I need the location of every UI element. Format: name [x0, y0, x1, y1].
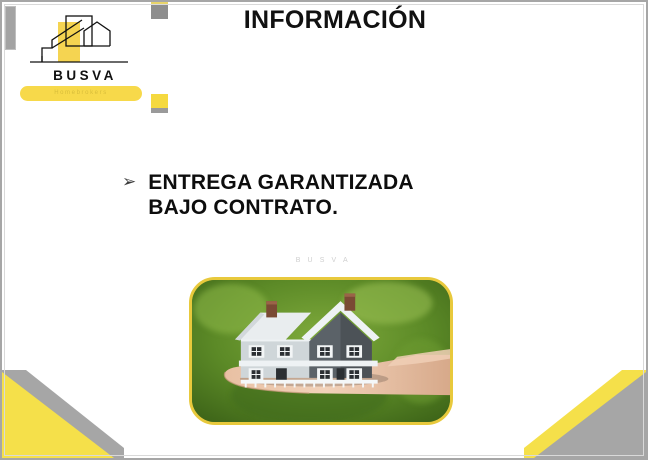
corner-decoration-bottom-right [524, 370, 646, 458]
logo-building-mark [22, 12, 148, 72]
left-vertical-bar [5, 6, 16, 50]
logo-name-text: BUSVA [22, 69, 148, 83]
decorative-square-bottom [151, 94, 168, 113]
logo-tagline-text: Homebrokers [20, 88, 142, 99]
bullet-list-item: ➢ ENTREGA GARANTIZADA BAJO CONTRATO. [122, 170, 542, 220]
bullet-item-text: ENTREGA GARANTIZADA BAJO CONTRATO. [148, 170, 414, 220]
corner-decoration-bottom-left [2, 370, 124, 458]
presentation-slide: BUSVA Homebrokers INFORMACIÓN ➢ ENTREGA … [0, 0, 648, 460]
bullet-arrow-icon: ➢ [122, 170, 136, 194]
house-photo-frame [189, 277, 453, 425]
busva-logo: BUSVA Homebrokers [22, 12, 148, 104]
decorative-square-bottom-lower [151, 108, 168, 113]
decorative-square-top [151, 0, 168, 19]
decorative-square-bottom-upper [151, 94, 168, 108]
decorative-square-top-lower [151, 4, 168, 19]
slide-title: INFORMACIÓN [170, 6, 500, 35]
house-in-hand-photo [192, 280, 450, 422]
watermark-text: B U S V A [248, 257, 398, 264]
